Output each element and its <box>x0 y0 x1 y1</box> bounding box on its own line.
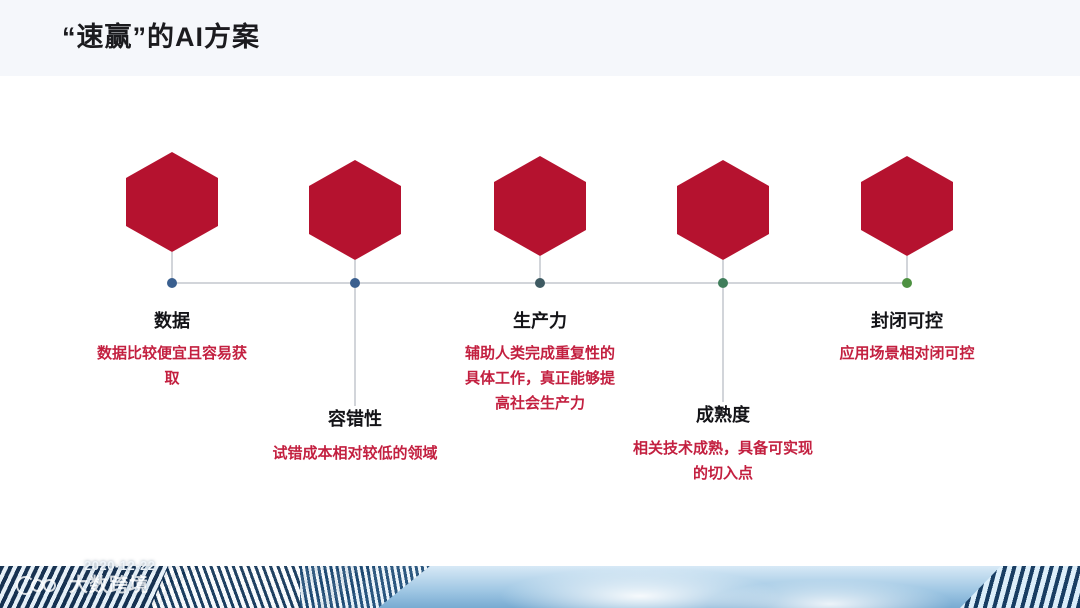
node-description: 相关技术成熟，具备可实现的切入点 <box>631 436 815 486</box>
node-label: 成熟度 <box>633 402 813 428</box>
node-description: 试错成本相对较低的领域 <box>270 441 440 466</box>
node-description: 应用场景相对闭可控 <box>819 341 995 366</box>
node-description: 辅助人类完成重复性的具体工作，真正能够提高社会生产力 <box>458 341 622 416</box>
node-droplink <box>722 288 724 402</box>
node-label: 封闭可控 <box>817 308 997 334</box>
hexagon-icon <box>677 160 769 260</box>
bottom-photo-strip <box>0 566 1080 608</box>
hexagon-icon <box>126 152 218 252</box>
timeline: 数据 数据比较便宜且容易获取 容错性 试错成本相对较低的领域 生产力 辅助人类完… <box>0 0 1080 560</box>
node-label: 容错性 <box>265 406 445 432</box>
node-dot <box>902 278 912 288</box>
node-dot <box>167 278 177 288</box>
node-dot <box>350 278 360 288</box>
node-dot <box>535 278 545 288</box>
slide-canvas: “速赢”的AI方案 数据 数据比较便宜且容易获取 容错性 试错成本相对较低的领域… <box>0 0 1080 608</box>
node-description: 数据比较便宜且容易获取 <box>90 341 254 391</box>
node-label: 数据 <box>82 308 262 334</box>
hexagon-icon <box>861 156 953 256</box>
hexagon-icon <box>309 160 401 260</box>
hexagon-icon <box>494 156 586 256</box>
node-dot <box>718 278 728 288</box>
node-droplink <box>354 288 356 406</box>
node-label: 生产力 <box>450 308 630 334</box>
